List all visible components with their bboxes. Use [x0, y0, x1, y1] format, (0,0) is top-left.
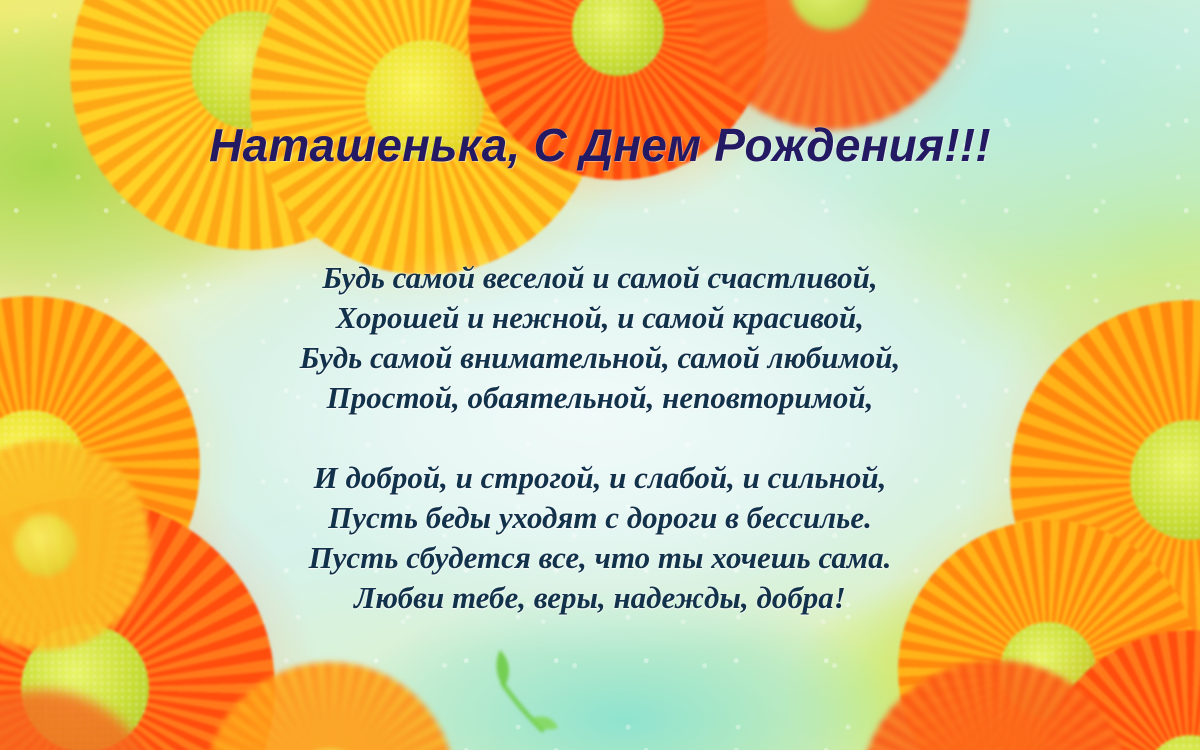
- poem-stanza-1: Будь самой веселой и самой счастливой, Х…: [0, 258, 1200, 418]
- poem-line: Будь самой внимательной, самой любимой,: [0, 338, 1200, 378]
- poem-line: Будь самой веселой и самой счастливой,: [0, 258, 1200, 298]
- poem-line: Хорошей и нежной, и самой красивой,: [0, 298, 1200, 338]
- poem-block: Будь самой веселой и самой счастливой, Х…: [0, 258, 1200, 618]
- poem-line: И доброй, и строгой, и слабой, и сильной…: [0, 458, 1200, 498]
- poem-stanza-2: И доброй, и строгой, и слабой, и сильной…: [0, 458, 1200, 618]
- greeting-card: Наташенька, С Днем Рождения!!! Будь само…: [0, 0, 1200, 750]
- card-text-layer: Наташенька, С Днем Рождения!!! Будь само…: [0, 0, 1200, 750]
- poem-line: Любви тебе, веры, надежды, добра!: [0, 578, 1200, 618]
- poem-line: Простой, обаятельной, неповторимой,: [0, 378, 1200, 418]
- poem-line: Пусть беды уходят с дороги в бессилье.: [0, 498, 1200, 538]
- poem-line: Пусть сбудется все, что ты хочешь сама.: [0, 538, 1200, 578]
- card-title: Наташенька, С Днем Рождения!!!: [0, 118, 1200, 172]
- stanza-spacer: [0, 418, 1200, 458]
